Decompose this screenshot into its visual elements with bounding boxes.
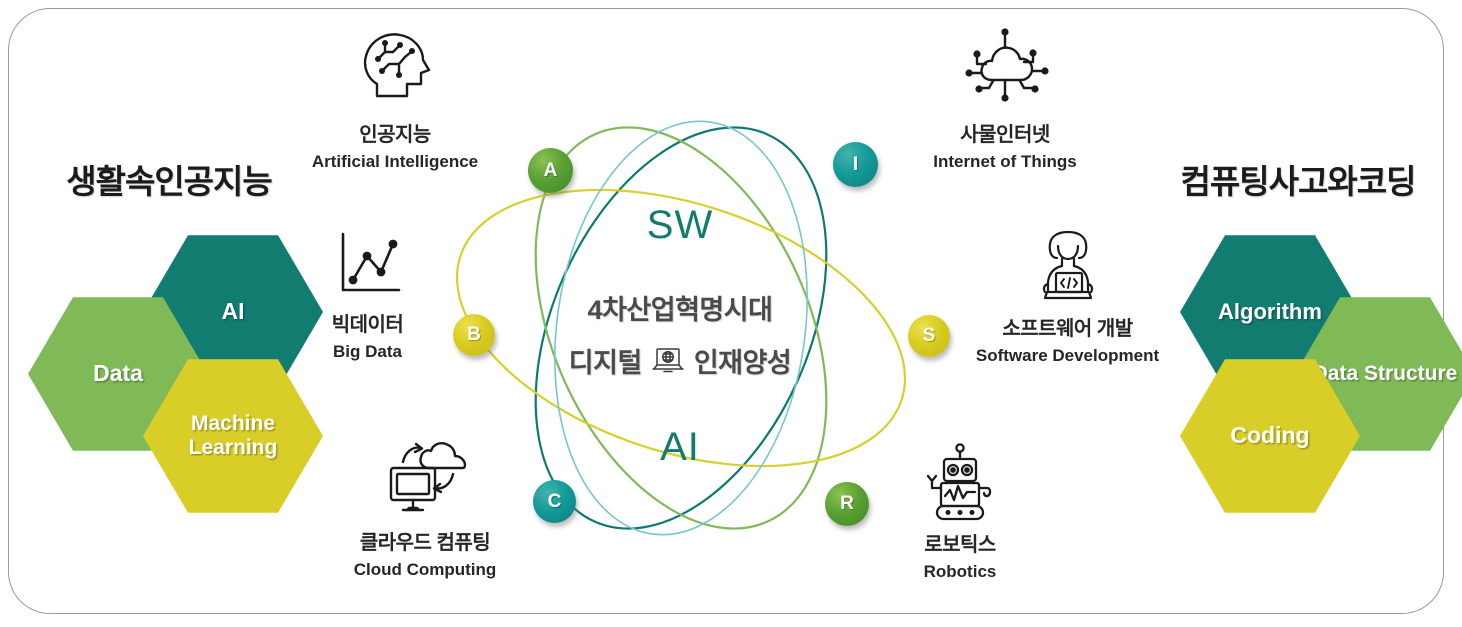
orbit-badge-c[interactable]: C <box>533 480 576 523</box>
feature-ko-label: 빅데이터 <box>300 308 435 337</box>
hex-data-structure-label: Data Structure <box>1307 362 1462 386</box>
orbit-badge-i[interactable]: I <box>833 142 878 187</box>
hex-machine-learning-label: Machine Learning <box>143 412 323 459</box>
feature-internet-of-things[interactable]: 사물인터넷 Internet of Things <box>910 26 1100 172</box>
center-line-1: 4차산업혁명시대 <box>530 288 830 327</box>
feature-en-label: Cloud Computing <box>330 560 520 580</box>
feature-ko-label: 소프트웨어 개발 <box>965 312 1170 341</box>
hex-ai-label: AI <box>216 299 251 325</box>
feature-software-development[interactable]: 소프트웨어 개발 Software Development <box>965 228 1170 366</box>
feature-en-label: Software Development <box>965 346 1170 366</box>
laptop-globe-icon <box>651 347 685 374</box>
feature-en-label: Internet of Things <box>910 152 1100 172</box>
brain-circuit-head-icon <box>300 26 490 112</box>
feature-big-data[interactable]: 빅데이터 Big Data <box>300 228 435 362</box>
center-word-ai: AI <box>600 425 760 470</box>
hex-data-label: Data <box>87 361 149 387</box>
hex-coding-label: Coding <box>1224 423 1315 449</box>
iot-cloud-nodes-icon <box>910 26 1100 112</box>
center-line-2: 디지털 인재양성 <box>530 341 830 380</box>
right-hexagon-cluster: Algorithm Data Structure Coding <box>1172 232 1452 492</box>
orbit-badge-i-letter: I <box>853 154 858 176</box>
center-line-2-left: 디지털 <box>569 341 642 380</box>
hex-algorithm-label: Algorithm <box>1212 300 1328 325</box>
orbit-badge-a[interactable]: A <box>528 148 573 193</box>
orbit-badge-c-letter: C <box>548 491 562 513</box>
center-line-2-right: 인재양성 <box>694 341 791 380</box>
left-hexagon-cluster: AI Data Machine Learning <box>28 232 308 492</box>
center-text-block: 4차산업혁명시대 디지털 <box>530 288 830 380</box>
feature-en-label: Big Data <box>300 342 435 362</box>
orbit-badge-r[interactable]: R <box>825 482 869 526</box>
feature-en-label: Robotics <box>885 562 1035 582</box>
right-section-title: 컴퓨팅사고와코딩 <box>1152 155 1444 203</box>
center-word-sw: SW <box>600 203 760 248</box>
developer-laptop-icon <box>965 228 1170 306</box>
orbit-badge-b-letter: B <box>467 324 481 346</box>
infographic-canvas: 생활속인공지능 AI Data Machine Learning 컴퓨팅사고와코… <box>0 0 1462 627</box>
line-chart-icon <box>300 228 435 302</box>
orbit-badge-a-letter: A <box>544 160 558 182</box>
orbit-badge-b[interactable]: B <box>453 314 495 356</box>
feature-ko-label: 사물인터넷 <box>910 118 1100 147</box>
orbit-badge-s-letter: S <box>923 325 936 347</box>
orbit-badge-s[interactable]: S <box>908 315 950 357</box>
orbit-badge-r-letter: R <box>840 493 854 515</box>
left-section-title: 생활속인공지능 <box>24 155 314 203</box>
